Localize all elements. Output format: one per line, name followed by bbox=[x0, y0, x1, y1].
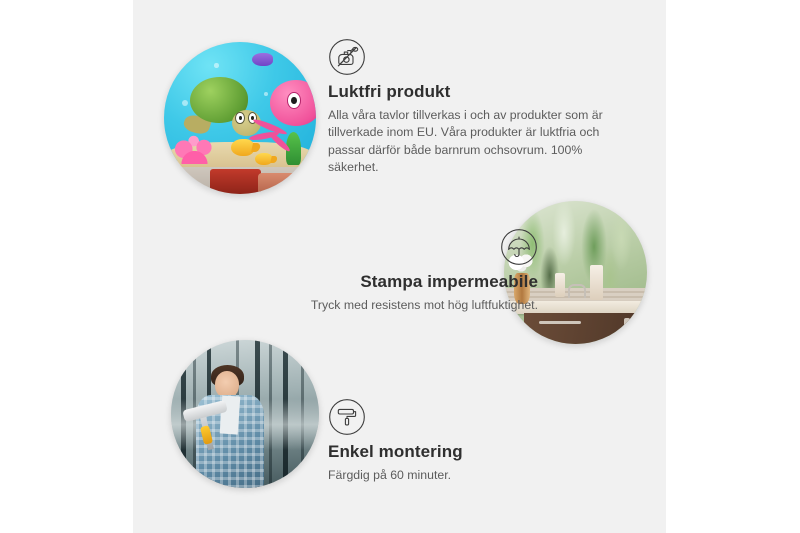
no-spray-bottle-icon bbox=[328, 38, 366, 76]
soap-bottle bbox=[590, 265, 603, 299]
feature-waterproof: Stampa impermeabile Tryck med resistens … bbox=[208, 228, 538, 314]
feature-description: Alla våra tavlor tillverkas i och av pro… bbox=[328, 107, 624, 177]
faucet-icon bbox=[568, 284, 585, 298]
purple-fish-icon bbox=[252, 53, 273, 67]
umbrella-icon bbox=[500, 228, 538, 266]
yellow-fish-icon bbox=[255, 153, 272, 165]
room-foreground bbox=[164, 167, 316, 194]
turtle-eye bbox=[235, 112, 244, 124]
feature-icon-wrap bbox=[328, 38, 624, 76]
feature-title: Stampa impermeabile bbox=[208, 272, 538, 292]
octopus-eye bbox=[287, 92, 301, 109]
wood-vanity-cabinet bbox=[524, 313, 647, 344]
yellow-fish-icon bbox=[231, 139, 254, 156]
image-forest-painter bbox=[171, 340, 319, 488]
ocean-scene bbox=[164, 42, 316, 194]
feature-icon-wrap bbox=[208, 228, 538, 266]
content-panel: Luktfri produkt Alla våra tavlor tillver… bbox=[133, 0, 666, 533]
person-face bbox=[215, 371, 239, 398]
feature-description: Tryck med resistens mot hög luftfuktighe… bbox=[208, 297, 538, 314]
feature-title: Enkel montering bbox=[328, 442, 608, 462]
feature-description: Färgdig på 60 minuter. bbox=[328, 467, 608, 484]
feature-banner: Luktfri produkt Alla våra tavlor tillver… bbox=[0, 0, 800, 533]
feature-easy-assembly: Enkel montering Färgdig på 60 minuter. bbox=[328, 398, 608, 484]
forest-scene bbox=[171, 340, 319, 488]
bubble-icon bbox=[214, 63, 219, 68]
feature-odourless: Luktfri produkt Alla våra tavlor tillver… bbox=[328, 38, 624, 177]
paint-roller-icon bbox=[328, 398, 366, 436]
feature-title: Luktfri produkt bbox=[328, 82, 624, 102]
feature-icon-wrap bbox=[328, 398, 608, 436]
soap-bottle bbox=[555, 273, 565, 297]
image-ocean-mural bbox=[164, 42, 316, 194]
